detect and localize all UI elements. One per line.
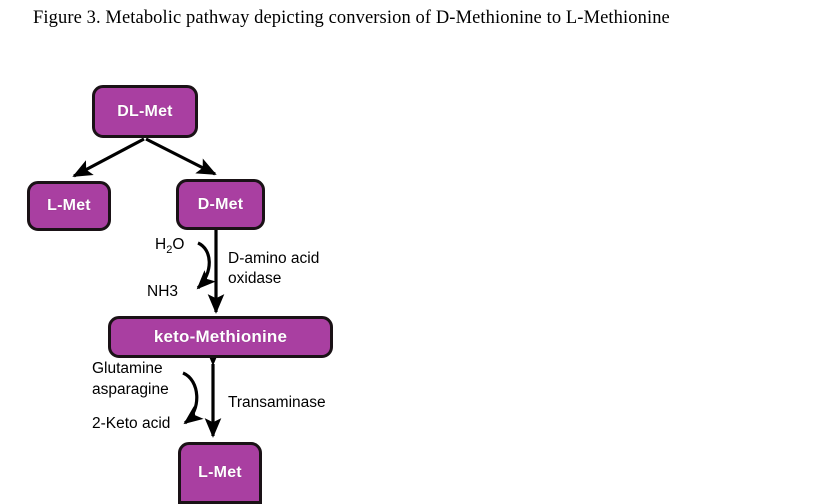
arrow-dlmet-to-dmet — [146, 139, 215, 174]
label-enzyme-d-amino-acid-oxidase-line2: oxidase — [228, 270, 281, 288]
label-enzyme-transaminase: Transaminase — [228, 394, 326, 412]
node-keto-methionine[interactable]: keto-Methionine — [108, 316, 333, 358]
label-water-oxygen: O — [172, 236, 184, 253]
label-glutamine: Glutamine — [92, 360, 163, 378]
label-2-keto-acid: 2-Keto acid — [92, 415, 170, 433]
node-dl-met[interactable]: DL-Met — [92, 85, 198, 138]
label-enzyme-d-amino-acid-oxidase-line1: D-amino acid — [228, 250, 319, 268]
curved-arrow-h2o-to-nh3 — [198, 243, 209, 288]
curved-arrow-glutamine-to-ketoacid — [183, 373, 197, 423]
node-d-met[interactable]: D-Met — [176, 179, 265, 230]
node-l-met-left[interactable]: L-Met — [27, 181, 111, 231]
arrow-dlmet-to-lmet — [74, 139, 144, 176]
label-asparagine: asparagine — [92, 381, 169, 399]
node-l-met-bottom[interactable]: L-Met — [178, 442, 262, 504]
label-ammonia: NH3 — [147, 283, 178, 301]
label-water: H2O — [155, 236, 184, 256]
label-water-element: H — [155, 236, 166, 253]
